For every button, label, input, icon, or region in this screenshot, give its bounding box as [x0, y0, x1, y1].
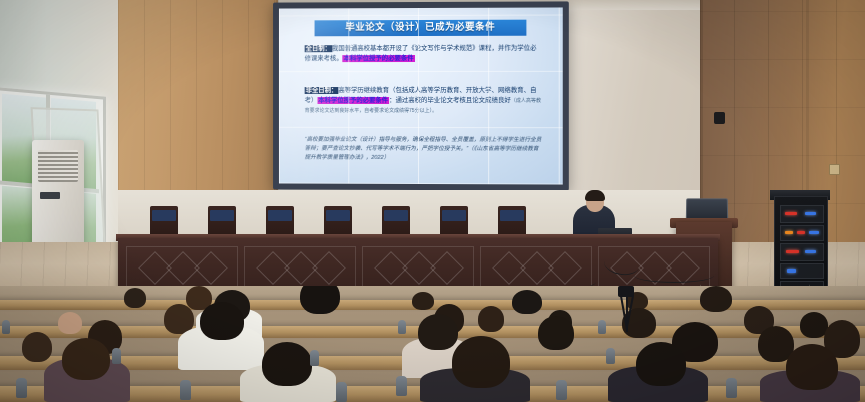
parttime-highlight: 本科学位授予的必要条件	[317, 97, 389, 104]
seat-armrest[interactable]	[180, 380, 191, 400]
seat-armrest[interactable]	[336, 382, 347, 402]
seat-armrest[interactable]	[398, 320, 406, 334]
audience-head	[636, 342, 686, 386]
slide-block-fulltime: 全日制：我国普通高校基本都开设了《论文写作与学术规范》课程，并作为学位必修课来考…	[305, 44, 543, 64]
audience-head	[700, 286, 732, 312]
seat-armrest[interactable]	[606, 348, 615, 364]
led-red	[786, 250, 799, 253]
seat-armrest[interactable]	[726, 378, 737, 398]
led-red	[785, 212, 797, 215]
seat-armrest[interactable]	[16, 378, 27, 398]
projection-screen: 毕业论文（设计）已成为必要条件 全日制：我国普通高校基本都开设了《论文写作与学术…	[279, 7, 563, 184]
stage-chair-seat	[384, 210, 408, 221]
stage-panel-section	[244, 246, 356, 288]
stage-chair-seat	[442, 210, 466, 221]
audience-head	[786, 344, 838, 390]
audience-head	[452, 336, 510, 388]
stage-panel-section	[362, 246, 474, 288]
slide-block-parttime: 非全日制：高等学历继续教育（包括成人高等学历教育、开放大学、网络教育、自考）本科…	[305, 86, 543, 116]
led-blue	[809, 231, 819, 234]
air-conditioner-grille	[38, 150, 78, 182]
fulltime-highlight: 本科学位授予的必要条件	[343, 55, 415, 62]
seat-armrest[interactable]	[556, 380, 567, 400]
audience-head	[262, 342, 312, 386]
slide-block-quote: “高校要加强毕业论文（设计）指导与服务，确保全程指导、全员覆盖，原则上不得学生进…	[305, 136, 543, 164]
air-conditioner-display	[40, 192, 60, 199]
audience-area	[0, 286, 865, 402]
stage-chair-seat	[268, 210, 292, 221]
presentation-slide: 毕业论文（设计）已成为必要条件 全日制：我国普通高校基本都开设了《论文写作与学术…	[279, 7, 563, 184]
av-unit[interactable]	[780, 225, 824, 241]
label-fulltime: 全日制：	[305, 45, 332, 52]
audience-head	[512, 290, 542, 314]
audience-head	[22, 332, 52, 362]
seat-armrest[interactable]	[112, 348, 121, 364]
lecture-hall-photo: 毕业论文（设计）已成为必要条件 全日制：我国普通高校基本都开设了《论文写作与学术…	[0, 0, 865, 402]
led-orange	[785, 231, 793, 234]
power-outlet-icon[interactable]	[829, 164, 840, 175]
led-blue	[787, 269, 796, 273]
parttime-text-after: ：通过高校的毕业论文考核且论文成绩良好	[389, 97, 511, 104]
audience-head	[200, 302, 244, 340]
audience-head	[124, 288, 146, 308]
stage-chair-seat	[326, 210, 350, 221]
seat-armrest[interactable]	[396, 376, 407, 396]
fulltime-text: 我国普通高校基本都开设了《论文写作与学术规范》课程，并作为学位必修课来考核。	[305, 45, 537, 62]
stage-chair-seat	[210, 210, 234, 221]
audience-head	[412, 292, 434, 310]
av-unit[interactable]	[780, 205, 824, 223]
stage-panel-section	[126, 246, 238, 288]
led-blue	[805, 212, 816, 215]
av-unit[interactable]	[780, 243, 824, 261]
projection-screen-frame: 毕业论文（设计）已成为必要条件 全日制：我国普通高校基本都开设了《论文写作与学术…	[273, 1, 569, 190]
label-parttime: 非全日制：	[305, 87, 339, 94]
audience-head	[478, 306, 504, 332]
audience-head	[300, 286, 340, 314]
seat-armrest[interactable]	[598, 320, 606, 334]
stage-chair-seat	[152, 210, 176, 221]
seat-armrest[interactable]	[2, 320, 10, 334]
audience-head	[62, 338, 110, 380]
seat-armrest[interactable]	[310, 350, 319, 366]
slide-title: 毕业论文（设计）已成为必要条件	[315, 20, 527, 37]
audience-head	[58, 312, 82, 334]
audience-head	[418, 314, 458, 350]
wall-speaker-icon	[714, 112, 725, 124]
led-blue	[805, 250, 816, 253]
audience-head	[538, 316, 574, 350]
stage-chair-seat	[500, 210, 524, 221]
led-red	[797, 231, 805, 234]
speaker-hair	[585, 190, 605, 201]
